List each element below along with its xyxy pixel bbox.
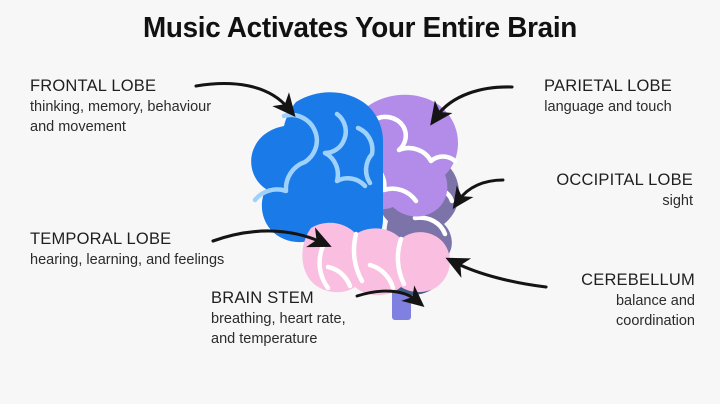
label-parietal-lobe-description: language and touch [519, 98, 697, 118]
label-brain-stem-description: breathing, heart rate, and temperature [211, 310, 371, 349]
callout-parietal-lobe: PARIETAL LOBE language and touch [519, 76, 697, 118]
label-temporal-lobe-description: hearing, learning, and feelings [30, 251, 225, 271]
label-cerebellum-name: CEREBELLUM [540, 270, 695, 290]
callout-brain-stem: BRAIN STEM breathing, heart rate, and te… [211, 288, 371, 349]
label-frontal-lobe-description: thinking, memory, behaviour and movement [30, 98, 220, 137]
callout-occipital-lobe: OCCIPITAL LOBE sight [498, 170, 693, 212]
infographic-canvas: Music Activates Your Entire Brain [0, 0, 720, 404]
label-occipital-lobe-name: OCCIPITAL LOBE [498, 170, 693, 190]
label-temporal-lobe-name: TEMPORAL LOBE [30, 229, 225, 249]
label-frontal-lobe-name: FRONTAL LOBE [30, 76, 220, 96]
label-brain-stem-name: BRAIN STEM [211, 288, 371, 308]
callout-cerebellum: CEREBELLUM balance and coordination [540, 270, 695, 331]
label-parietal-lobe-name: PARIETAL LOBE [519, 76, 697, 96]
label-occipital-lobe-description: sight [498, 192, 693, 212]
callout-temporal-lobe: TEMPORAL LOBE hearing, learning, and fee… [30, 229, 225, 271]
label-cerebellum-description: balance and coordination [540, 292, 695, 331]
page-title: Music Activates Your Entire Brain [14, 12, 705, 45]
callout-frontal-lobe: FRONTAL LOBE thinking, memory, behaviour… [30, 76, 220, 137]
brain-region-temporal-lobe [302, 223, 450, 295]
